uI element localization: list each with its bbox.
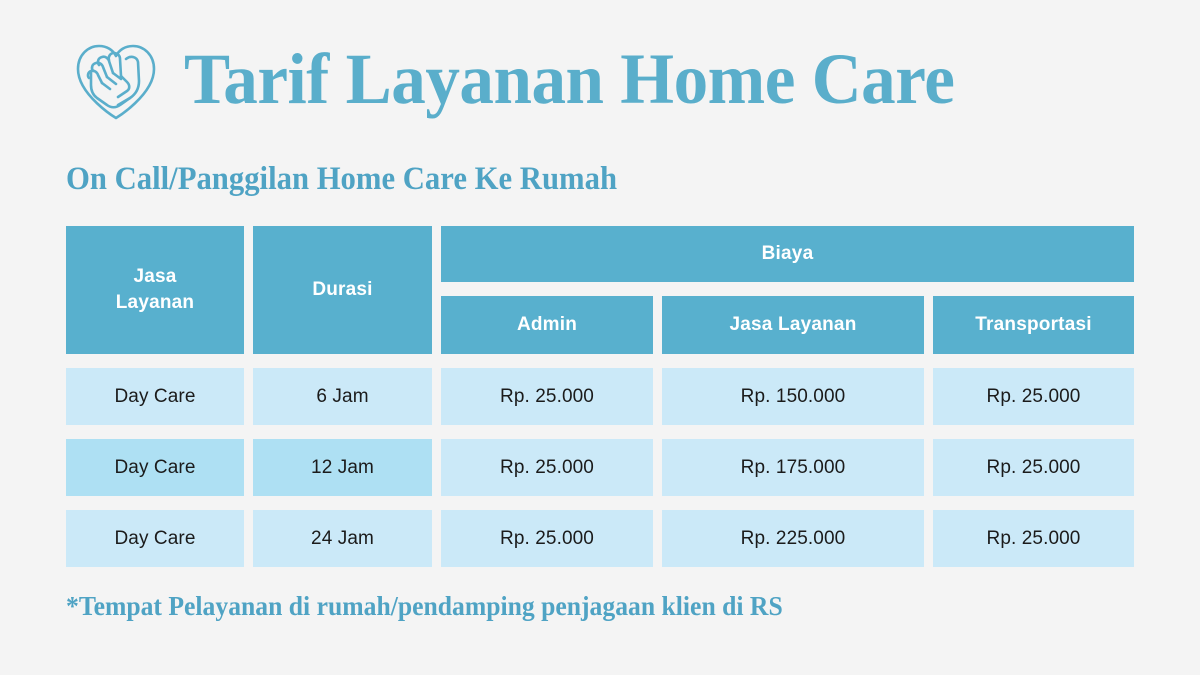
cell-durasi: 12 Jam <box>253 439 432 496</box>
header-biaya-jasa-layanan: Jasa Layanan <box>662 296 924 354</box>
cell-admin: Rp. 25.000 <box>441 368 653 425</box>
table-row: Day Care 6 Jam Rp. 25.000 Rp. 150.000 Rp… <box>66 368 1134 425</box>
table-header: Jasa Layanan Durasi Biaya Admin Jasa Lay… <box>66 226 1134 354</box>
cell-jasa-layanan: Day Care <box>66 368 244 425</box>
header-transportasi: Transportasi <box>933 296 1134 354</box>
cell-admin: Rp. 25.000 <box>441 510 653 567</box>
pricing-table: Jasa Layanan Durasi Biaya Admin Jasa Lay… <box>66 226 1134 567</box>
column-biaya-group: Biaya Admin Jasa Layanan Transportasi <box>441 226 1134 354</box>
poster-canvas: Tarif Layanan Home Care On Call/Panggila… <box>0 0 1200 675</box>
footnote: *Tempat Pelayanan di rumah/pendamping pe… <box>66 592 783 622</box>
cell-transportasi: Rp. 25.000 <box>933 510 1134 567</box>
column-jasa-layanan: Jasa Layanan <box>66 226 244 354</box>
cell-jasa-layanan: Day Care <box>66 439 244 496</box>
cell-durasi: 24 Jam <box>253 510 432 567</box>
cell-transportasi: Rp. 25.000 <box>933 439 1134 496</box>
header-biaya: Biaya <box>441 226 1134 282</box>
header-jasa-layanan-line2: Layanan <box>116 292 195 313</box>
table-row: Day Care 24 Jam Rp. 25.000 Rp. 225.000 R… <box>66 510 1134 567</box>
biaya-subheader-row: Admin Jasa Layanan Transportasi <box>441 296 1134 354</box>
header-admin: Admin <box>441 296 653 354</box>
header-durasi: Durasi <box>253 226 432 354</box>
page-title: Tarif Layanan Home Care <box>184 43 954 115</box>
cell-jasa-layanan: Day Care <box>66 510 244 567</box>
column-durasi: Durasi <box>253 226 432 354</box>
cell-transportasi: Rp. 25.000 <box>933 368 1134 425</box>
header-jasa-layanan-line1: Jasa <box>133 266 176 287</box>
cell-durasi: 6 Jam <box>253 368 432 425</box>
table-row: Day Care 12 Jam Rp. 25.000 Rp. 175.000 R… <box>66 439 1134 496</box>
header: Tarif Layanan Home Care <box>66 24 987 134</box>
section-subtitle: On Call/Panggilan Home Care Ke Rumah <box>66 161 617 197</box>
cell-biaya-jasa-layanan: Rp. 175.000 <box>662 439 924 496</box>
cell-biaya-jasa-layanan: Rp. 225.000 <box>662 510 924 567</box>
table-body: Day Care 6 Jam Rp. 25.000 Rp. 150.000 Rp… <box>66 368 1134 567</box>
cell-biaya-jasa-layanan: Rp. 150.000 <box>662 368 924 425</box>
header-jasa-layanan: Jasa Layanan <box>66 226 244 354</box>
cell-admin: Rp. 25.000 <box>441 439 653 496</box>
heart-with-hands-icon <box>66 29 166 129</box>
